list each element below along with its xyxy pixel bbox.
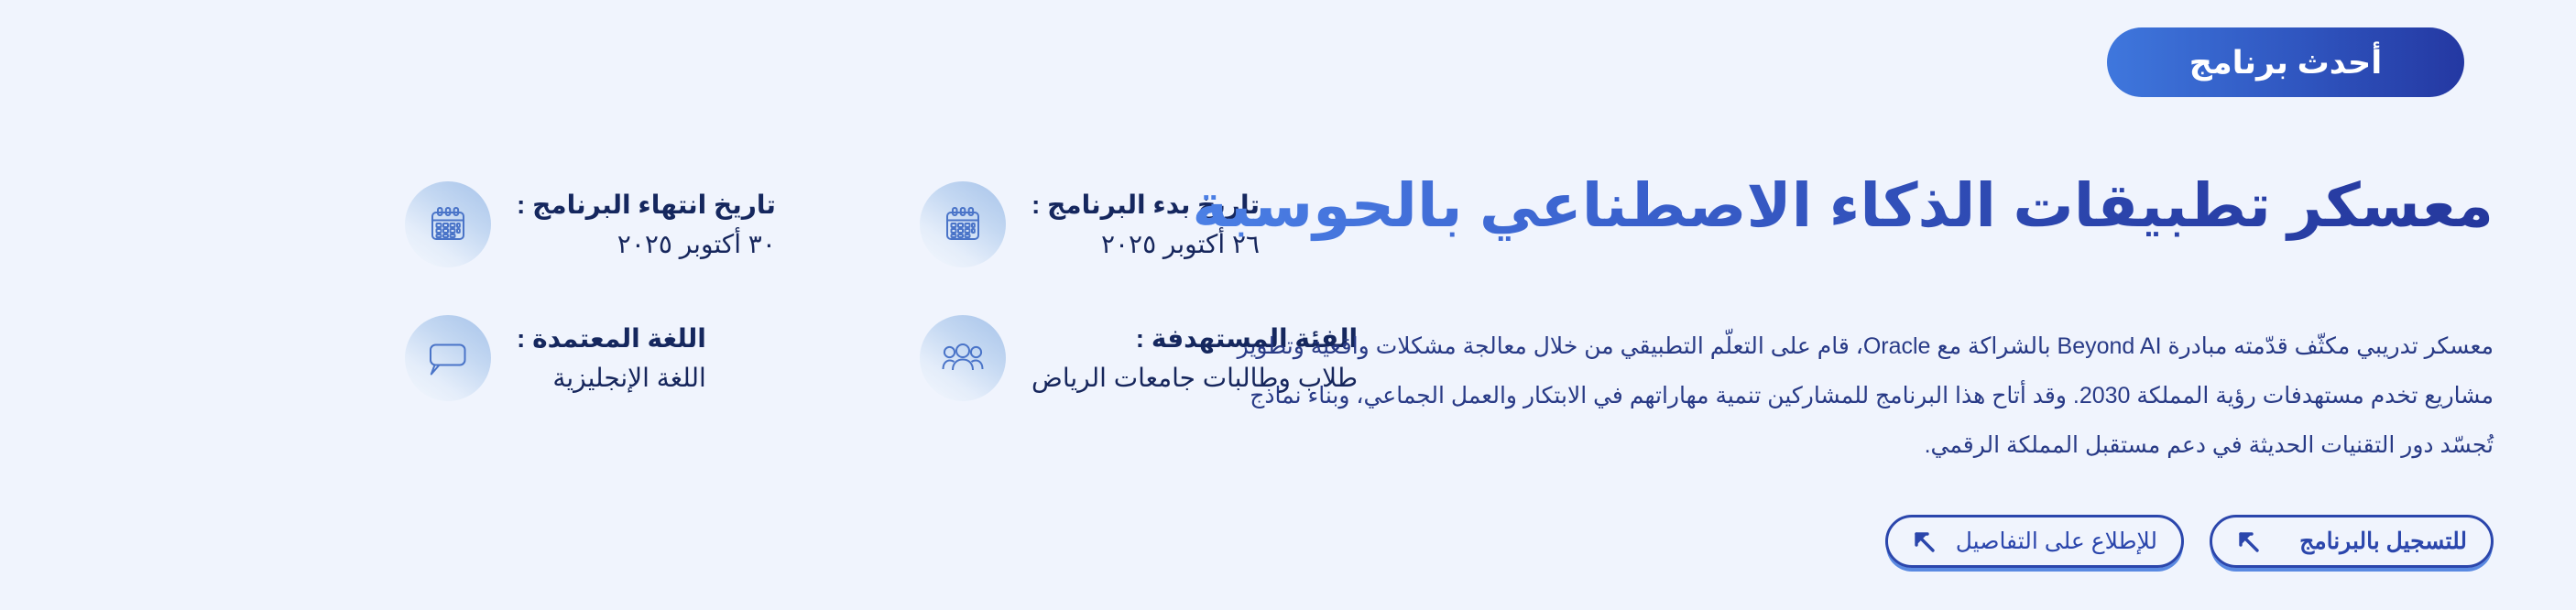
hero-content-column: معسكر تطبيقات الذكاء الاصطناعي بالحوسبة …: [1174, 0, 2494, 610]
info-text-end-date: تاريخ انتهاء البرنامج : ٣٠ أكتوبر ٢٠٢٥: [517, 185, 776, 265]
info-text-language: اللغة المعتمدة : اللغة الإنجليزية: [517, 319, 706, 398]
program-description: معسكر تدريبي مكثّف قدّمته مبادرة Beyond …: [1193, 322, 2494, 470]
arrow-up-left-icon: [1908, 526, 1939, 557]
view-details-button-label: للإطلاع على التفاصيل: [1956, 530, 2157, 553]
info-value-end-date: ٣٠ أكتوبر ٢٠٢٥: [517, 224, 776, 264]
register-button-label: للتسجيل بالبرنامج: [2299, 530, 2467, 553]
speech-bubble-icon: [428, 339, 468, 377]
people-group-icon-badge: [920, 315, 1006, 401]
view-details-button[interactable]: للإطلاع على التفاصيل: [1885, 515, 2184, 568]
people-group-icon: [942, 340, 984, 376]
hero-action-buttons: للتسجيل بالبرنامج للإطلاع على التفاصيل: [1885, 515, 2494, 568]
info-item-end-date: تاريخ انتهاء البرنامج : ٣٠ أكتوبر ٢٠٢٥: [405, 181, 881, 267]
calendar-icon-badge-end: [405, 181, 491, 267]
register-button[interactable]: للتسجيل بالبرنامج: [2210, 515, 2494, 568]
info-label-language: اللغة المعتمدة :: [517, 319, 706, 358]
info-value-language: اللغة الإنجليزية: [517, 358, 706, 398]
speech-bubble-icon-badge: [405, 315, 491, 401]
info-item-language: اللغة المعتمدة : اللغة الإنجليزية: [405, 315, 881, 401]
arrow-up-left-icon: [2232, 526, 2264, 557]
calendar-icon: [428, 204, 468, 245]
program-hero-banner: أحدث برنامج تاريخ بدء البرنامج : ٢٦ أكتو…: [0, 0, 2576, 610]
page-title: معسكر تطبيقات الذكاء الاصطناعي بالحوسبة …: [1174, 170, 2494, 242]
info-label-end-date: تاريخ انتهاء البرنامج :: [517, 185, 776, 224]
